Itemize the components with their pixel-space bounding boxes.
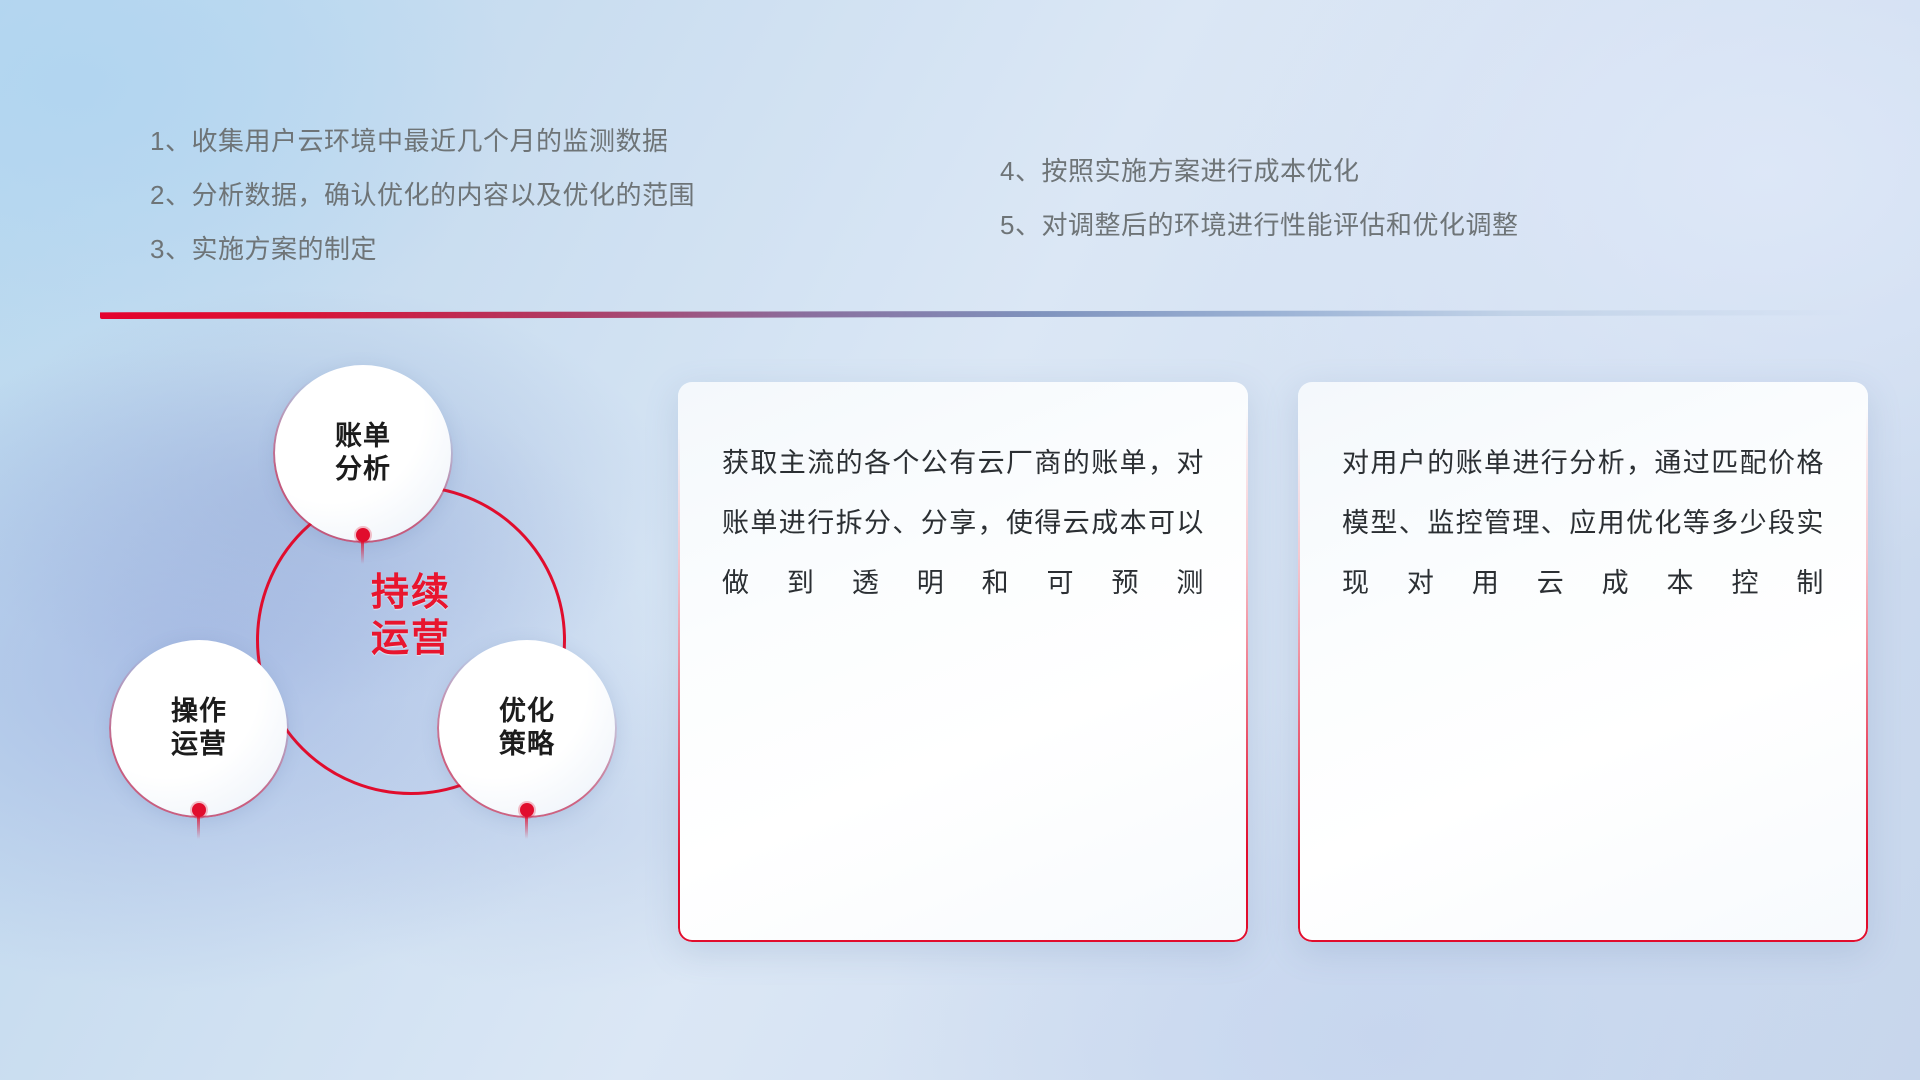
venn-node-dot-left-icon	[192, 803, 206, 817]
step-item-4: 4、按照实施方案进行成本优化	[1000, 158, 1518, 184]
venn-node-dot-top-icon	[356, 528, 370, 542]
feature-card-cloud-cost-optimization[interactable]: 对用户的账单进行分析，通过匹配价格模型、监控管理、应用优化等多少段实现对用云成本…	[1298, 382, 1868, 942]
step-item-1: 1、收集用户云环境中最近几个月的监测数据	[150, 128, 695, 154]
card-body-text: 对用户的账单进行分析，通过匹配价格模型、监控管理、应用优化等多少段实现对用云成本…	[1342, 434, 1824, 614]
step-item-2: 2、分析数据，确认优化的内容以及优化的范围	[150, 182, 695, 208]
slide-canvas: 1、收集用户云环境中最近几个月的监测数据 2、分析数据，确认优化的内容以及优化的…	[0, 0, 1920, 1080]
venn-bubble-top-line-1: 账单	[335, 420, 391, 453]
venn-bubble-top-line-2: 分析	[335, 453, 391, 486]
steps-left-column: 1、收集用户云环境中最近几个月的监测数据 2、分析数据，确认优化的内容以及优化的…	[150, 128, 695, 290]
venn-diagram: 持续 运营 账单 分析 操作 运营 优化 策略	[95, 350, 655, 950]
venn-bubble-billing-analysis[interactable]: 账单 分析	[275, 365, 451, 541]
section-divider	[100, 310, 1868, 319]
step-item-5: 5、对调整后的环境进行性能评估和优化调整	[1000, 212, 1518, 238]
venn-bubble-optimization-strategy[interactable]: 优化 策略	[439, 640, 615, 816]
card-body-text: 获取主流的各个公有云厂商的账单，对账单进行拆分、分享，使得云成本可以做到透明和可…	[722, 434, 1204, 614]
venn-bubble-operations[interactable]: 操作 运营	[111, 640, 287, 816]
venn-node-dot-right-icon	[520, 803, 534, 817]
venn-bubble-right-line-2: 策略	[499, 728, 555, 761]
venn-center-line-1: 持续	[256, 570, 566, 616]
venn-bubble-right-line-1: 优化	[499, 695, 555, 728]
venn-bubble-left-line-2: 运营	[171, 728, 227, 761]
feature-card-multicloud-billing[interactable]: 获取主流的各个公有云厂商的账单，对账单进行拆分、分享，使得云成本可以做到透明和可…	[678, 382, 1248, 942]
step-item-3: 3、实施方案的制定	[150, 236, 695, 262]
venn-bubble-left-line-1: 操作	[171, 695, 227, 728]
steps-right-column: 4、按照实施方案进行成本优化 5、对调整后的环境进行性能评估和优化调整	[1000, 158, 1518, 266]
